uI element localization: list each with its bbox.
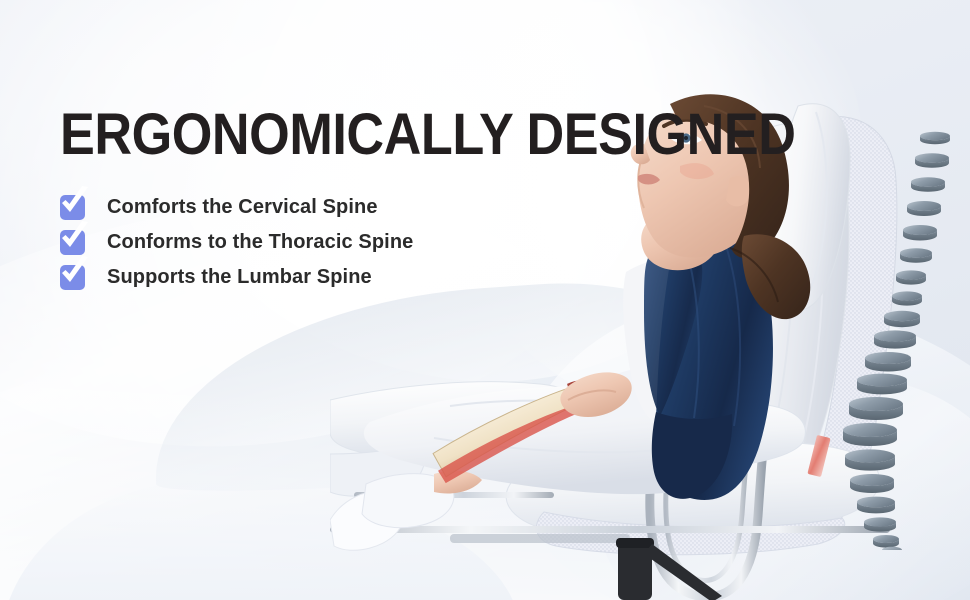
vertebra-04: [907, 201, 941, 216]
check-mark-icon: [57, 186, 91, 218]
vertebra-19: [873, 535, 899, 548]
vertebra-17: [857, 497, 895, 514]
checkbox-checked-icon: [60, 230, 85, 255]
check-mark-icon: [57, 221, 91, 253]
vertebra-11: [865, 352, 911, 372]
vertebra-12: [857, 374, 907, 395]
vertebra-08: [892, 291, 922, 305]
vertebra-01: [920, 132, 950, 144]
vertebra-05: [903, 225, 937, 241]
feature-label: Conforms to the Thoracic Spine: [107, 231, 413, 254]
vertebra-03: [911, 177, 945, 192]
vertebra-07: [896, 270, 926, 284]
feature-label: Comforts the Cervical Spine: [107, 196, 378, 219]
vertebra-16: [850, 474, 894, 493]
vertebra-02: [915, 153, 949, 168]
checkbox-checked-icon: [60, 265, 85, 290]
vertebra-18: [864, 517, 896, 531]
vertebra-14: [843, 423, 897, 446]
list-item: Comforts the Cervical Spine: [60, 190, 877, 225]
vertebra-10: [874, 330, 916, 348]
vertebra-13: [849, 397, 903, 420]
page-title: ERGONOMICALLY DESIGNED: [60, 106, 796, 164]
vertebra-09: [884, 311, 920, 327]
checkbox-checked-icon: [60, 195, 85, 220]
vertebra-15: [845, 449, 895, 470]
feature-list: Comforts the Cervical Spine Conforms to …: [60, 190, 877, 295]
list-item: Conforms to the Thoracic Spine: [60, 225, 877, 260]
list-item: Supports the Lumbar Spine: [60, 260, 877, 295]
feature-label: Supports the Lumbar Spine: [107, 266, 372, 289]
vertebra-06: [900, 248, 932, 263]
chair-base-rail-mechanism: [450, 534, 630, 543]
chair-cylinder-collar: [616, 538, 654, 548]
banner-copy-block: ERGONOMICALLY DESIGNED Comforts the Cerv…: [60, 106, 877, 295]
product-feature-banner: ERGONOMICALLY DESIGNED Comforts the Cerv…: [0, 0, 970, 600]
check-mark-icon: [57, 256, 91, 288]
